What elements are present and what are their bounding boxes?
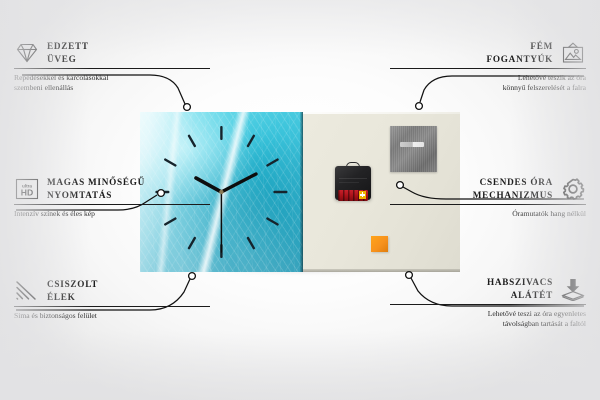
ultra-hd-icon: ultra HD xyxy=(14,177,40,201)
feature-description: Lehetővé teszi az óra egyenletes távolsá… xyxy=(390,309,586,329)
feature-title-line2: NYOMTATÁS xyxy=(47,189,145,202)
feature-tempered-glass: EDZETT ÜVEG Repedésekkel és karcolásokka… xyxy=(14,40,210,93)
infographic-canvas: EDZETT ÜVEG Repedésekkel és karcolásokka… xyxy=(0,0,600,400)
feature-divider xyxy=(390,68,586,69)
feature-divider xyxy=(14,204,210,205)
feature-desc-line1: Lehetővé teszi az óra egyenletes xyxy=(390,309,586,319)
feature-title-line2: ÉLEK xyxy=(47,291,98,304)
connector-node-glass xyxy=(184,104,191,111)
feature-title-line1: FÉM xyxy=(487,40,553,53)
feature-desc-line2: könnyű felszerelését a falra xyxy=(390,83,586,93)
feature-desc-line2: távolságban tartását a faltól xyxy=(390,319,586,329)
feature-desc-line1: Intenzív színek és éles kép xyxy=(14,209,210,219)
feature-title-line1: EDZETT xyxy=(47,40,89,53)
feature-high-quality-print: ultra HD MAGAS MINŐSÉGŰ NYOMTATÁS Intenz… xyxy=(14,176,210,219)
feature-desc-line1: Sima és biztonságos felület xyxy=(14,311,210,321)
feature-header: CSENDES ÓRA MECHANIZMUS xyxy=(390,176,586,201)
picture-hanger-icon xyxy=(560,41,586,65)
feature-polished-edges: CSISZOLT ÉLEK Sima és biztonságos felüle… xyxy=(14,278,210,321)
feature-description: Intenzív színek és éles kép xyxy=(14,209,210,219)
feature-header: HABSZIVACS ALÁTÉT xyxy=(390,276,586,301)
connector-node-handles xyxy=(416,103,423,110)
feature-metal-handles: FÉM FOGANTYÚK Lehetővé teszik az óra kön… xyxy=(390,40,586,93)
gear-icon xyxy=(560,177,586,201)
arrow-onto-pad-icon xyxy=(560,277,586,301)
feature-title: CSISZOLT ÉLEK xyxy=(47,278,98,303)
feature-desc-line2: szembeni ellenállás xyxy=(14,83,210,93)
feature-title-line2: FOGANTYÚK xyxy=(487,53,553,66)
feature-silent-mechanism: CSENDES ÓRA MECHANIZMUS Óramutatók hang … xyxy=(390,176,586,219)
feature-foam-pad: HABSZIVACS ALÁTÉT Lehetővé teszi az óra … xyxy=(390,276,586,329)
feature-title: CSENDES ÓRA MECHANIZMUS xyxy=(473,176,553,201)
feature-description: Sima és biztonságos felület xyxy=(14,311,210,321)
polished-edge-icon xyxy=(14,279,40,303)
feature-title: EDZETT ÜVEG xyxy=(47,40,89,65)
feature-divider xyxy=(390,304,586,305)
feature-divider xyxy=(14,306,210,307)
feature-title: MAGAS MINŐSÉGŰ NYOMTATÁS xyxy=(47,176,145,201)
feature-header: ultra HD MAGAS MINŐSÉGŰ NYOMTATÁS xyxy=(14,176,210,201)
feature-divider xyxy=(390,204,586,205)
feature-title-line2: ALÁTÉT xyxy=(487,289,553,302)
feature-description: Óramutatók hang nélkül xyxy=(390,209,586,219)
feature-title-line2: ÜVEG xyxy=(47,53,89,66)
feature-divider xyxy=(14,68,210,69)
feature-desc-line1: Repedésekkel és karcolásokkal xyxy=(14,73,210,83)
feature-title-line1: CSISZOLT xyxy=(47,278,98,291)
feature-title-line1: CSENDES ÓRA xyxy=(473,176,553,189)
feature-header: FÉM FOGANTYÚK xyxy=(390,40,586,65)
feature-title-line2: MECHANIZMUS xyxy=(473,189,553,202)
feature-desc-line1: Óramutatók hang nélkül xyxy=(390,209,586,219)
feature-header: EDZETT ÜVEG xyxy=(14,40,210,65)
svg-text:HD: HD xyxy=(21,187,33,197)
feature-desc-line1: Lehetővé teszik az óra xyxy=(390,73,586,83)
diamond-icon xyxy=(14,41,40,65)
feature-description: Lehetővé teszik az óra könnyű felszerelé… xyxy=(390,73,586,93)
feature-description: Repedésekkel és karcolásokkal szembeni e… xyxy=(14,73,210,93)
feature-title-line1: MAGAS MINŐSÉGŰ xyxy=(47,176,145,189)
feature-title: HABSZIVACS ALÁTÉT xyxy=(487,276,553,301)
feature-header: CSISZOLT ÉLEK xyxy=(14,278,210,303)
feature-title: FÉM FOGANTYÚK xyxy=(487,40,553,65)
feature-title-line1: HABSZIVACS xyxy=(487,276,553,289)
